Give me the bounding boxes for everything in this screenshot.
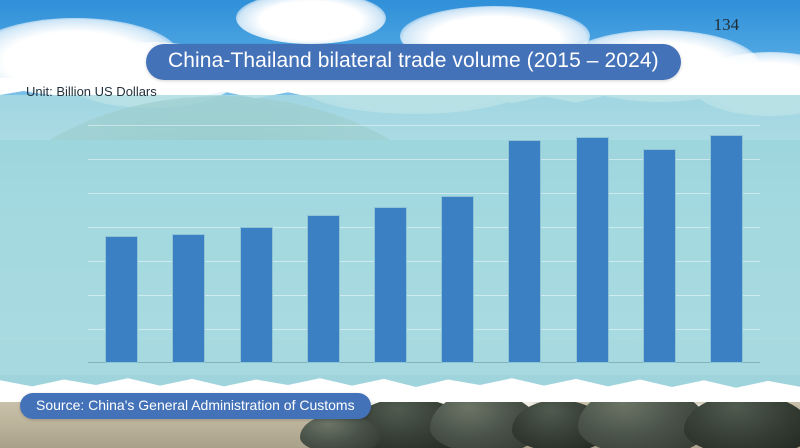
bar-2024[interactable] [710,135,743,363]
bar-2018[interactable] [307,215,340,363]
infographic-slide: 0204060801001201402015201620172018201920… [0,0,800,448]
unit-label: Unit: Billion US Dollars [26,84,157,99]
bar-2022[interactable] [576,137,609,363]
bar-2016[interactable] [172,234,205,363]
bar-2015[interactable] [105,236,138,364]
bar-value-label: 134 [691,15,761,35]
bar-2023[interactable] [643,149,676,363]
bar-2019[interactable] [374,207,407,363]
gridline [88,125,760,126]
bar-2021[interactable] [508,140,541,363]
page-title: China-Thailand bilateral trade volume (2… [146,44,681,80]
bar-2020[interactable] [441,196,474,363]
source-attribution: Source: China's General Administration o… [20,393,371,419]
plot-area: 0204060801001201402015201620172018201920… [88,125,760,363]
bar-2017[interactable] [240,227,273,363]
